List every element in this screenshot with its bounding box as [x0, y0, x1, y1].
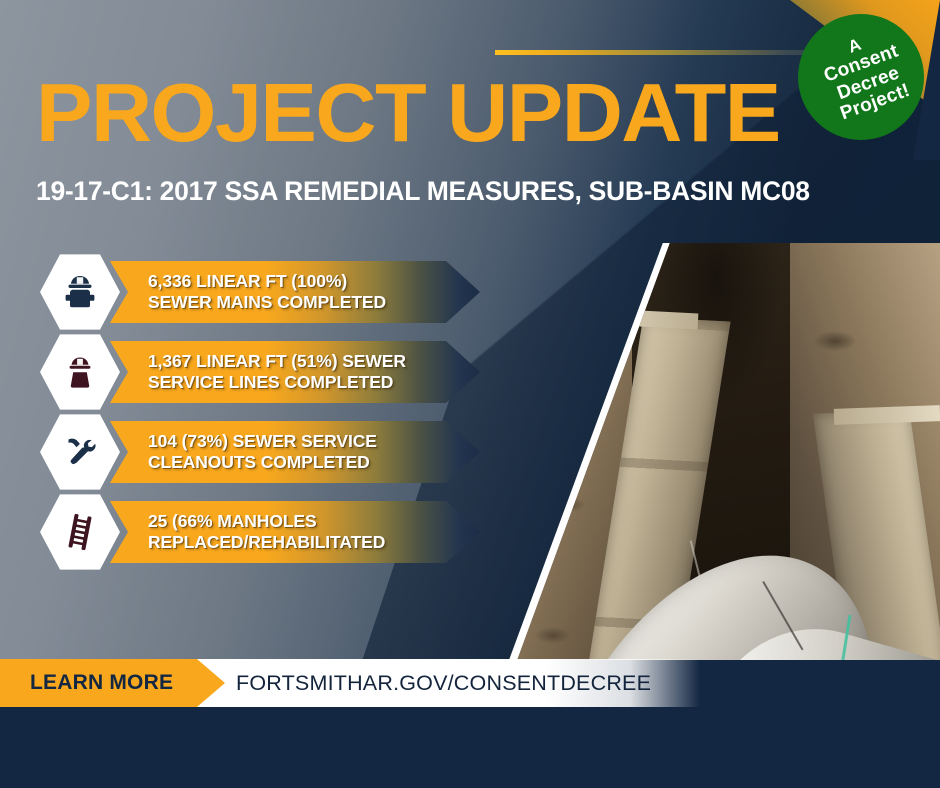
stat-bar: 104 (73%) SEWER SERVICE CLEANOUTS COMPLE…	[110, 421, 480, 483]
hammer-wrench-icon	[59, 431, 101, 473]
infographic-canvas: A Consent Decree Project! PROJECT UPDATE…	[0, 0, 940, 788]
website-url-link[interactable]: FORTSMITHAR.GOV/CONSENTDECREE	[236, 659, 651, 707]
page-title: PROJECT UPDATE	[36, 75, 780, 151]
ladder-icon	[59, 511, 101, 553]
stat-text: 25 (66% MANHOLES REPLACED/REHABILITATED	[148, 511, 385, 552]
stat-icon-badge	[40, 332, 120, 412]
photo-right-shoring-cap	[834, 405, 940, 425]
stat-bar: 6,336 LINEAR FT (100%) SEWER MAINS COMPL…	[110, 261, 480, 323]
consent-decree-badge: A Consent Decree Project!	[798, 14, 924, 140]
consent-decree-badge-text: A Consent Decree Project!	[806, 25, 915, 130]
stat-icon-badge	[40, 412, 120, 492]
stat-bar: 25 (66% MANHOLES REPLACED/REHABILITATED	[110, 501, 480, 563]
stat-bar: 1,367 LINEAR FT (51%) SEWER SERVICE LINE…	[110, 341, 480, 403]
hard-hat-worker-icon	[59, 351, 101, 393]
stat-icon-badge	[40, 252, 120, 332]
learn-more-button[interactable]: LEARN MORE	[0, 659, 225, 707]
page-subtitle: 19-17-C1: 2017 SSA REMEDIAL MEASURES, SU…	[36, 176, 810, 207]
stat-icon-badge	[40, 492, 120, 572]
stat-text: 104 (73%) SEWER SERVICE CLEANOUTS COMPLE…	[148, 431, 377, 472]
stat-text: 1,367 LINEAR FT (51%) SEWER SERVICE LINE…	[148, 351, 406, 392]
learn-more-label: LEARN MORE	[30, 671, 173, 695]
construction-worker-icon	[59, 271, 101, 313]
stat-text: 6,336 LINEAR FT (100%) SEWER MAINS COMPL…	[148, 271, 386, 312]
